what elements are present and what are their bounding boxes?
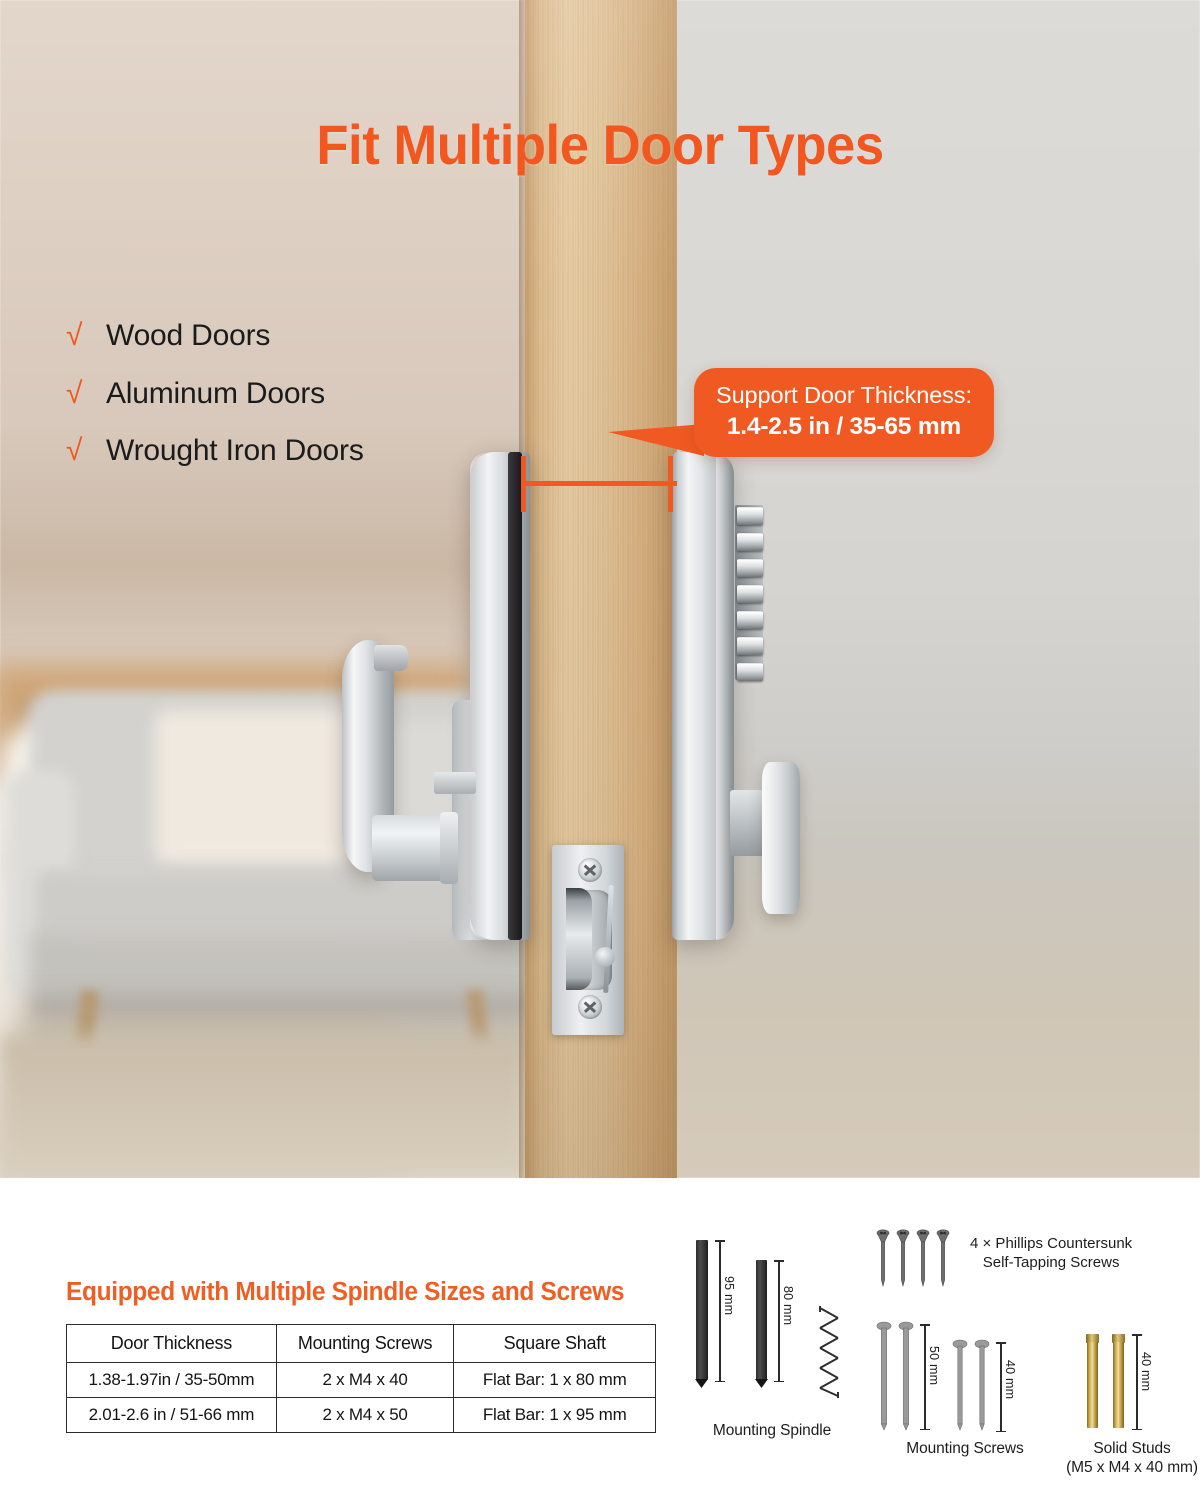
screw-40mm-dimension-bar — [1000, 1342, 1002, 1432]
latch-bolt-curve — [566, 888, 592, 990]
mounting-spindle-illustration: 95 mm 80 mm Mounting Spindle — [686, 1234, 858, 1454]
solid-studs-caption: Solid Studs (M5 x M4 x 40 mm) — [1032, 1440, 1200, 1477]
list-item-label: Aluminum Doors — [106, 378, 325, 410]
stud-40mm-dimension-label: 40 mm — [1139, 1352, 1153, 1391]
list-item: √ Wrought Iron Doors — [66, 435, 364, 467]
latch-screw-bottom-icon — [578, 995, 602, 1019]
table-cell: 2 x M4 x 50 — [276, 1398, 454, 1433]
spindle-80mm-dimension-bar — [778, 1260, 780, 1382]
thumbturn-knob — [762, 762, 800, 914]
door-thickness-callout: Support Door Thickness: 1.4-2.5 in / 35-… — [694, 368, 994, 457]
hero-image: Support Door Thickness: 1.4-2.5 in / 35-… — [0, 0, 1200, 1178]
section-title: Equipped with Multiple Spindle Sizes and… — [66, 1278, 624, 1307]
callout-value: 1.4-2.5 in / 35-65 mm — [716, 412, 972, 443]
page-title: Fit Multiple Door Types — [36, 112, 1164, 177]
lever-handle-hub-cap — [440, 812, 458, 884]
spindle-bar-95mm-tip-icon — [695, 1379, 708, 1388]
spindle-bar-95mm-icon — [696, 1240, 708, 1380]
table-cell: 1.38-1.97in / 35-50mm — [67, 1363, 277, 1398]
spring-icon — [816, 1304, 842, 1400]
keypad-button — [737, 533, 763, 551]
lock-gasket — [508, 452, 522, 940]
latch-screw-top-icon — [578, 858, 602, 882]
screw-40mm-dimension-label: 40 mm — [1003, 1360, 1017, 1399]
list-item: √ Wood Doors — [66, 320, 364, 352]
keypad-button — [737, 559, 763, 577]
spindle-80mm-dimension-label: 80 mm — [781, 1286, 795, 1325]
stud-body-icon — [1113, 1342, 1124, 1428]
lever-handle-hub — [372, 815, 450, 881]
stud-40mm-dimension-bar — [1136, 1334, 1138, 1430]
table-row: 2.01-2.6 in / 51-66 mm 2 x M4 x 50 Flat … — [67, 1398, 656, 1433]
list-item-label: Wrought Iron Doors — [106, 435, 364, 467]
lock-exterior-bevel — [470, 452, 488, 940]
tapping-screws-illustration: 4 × Phillips Countersunk Self-Tapping Sc… — [876, 1228, 1176, 1298]
floor-blur — [0, 1035, 530, 1178]
spindle-95mm-dimension-label: 95 mm — [722, 1276, 736, 1315]
door-type-list: √ Wood Doors √ Aluminum Doors √ Wrought … — [66, 320, 364, 493]
tapping-screws-note-line1: 4 × Phillips Countersunk — [970, 1234, 1132, 1253]
screw-50mm-dimension-bar — [924, 1324, 926, 1430]
lever-handle-tip — [374, 645, 408, 671]
table-header-row: Door Thickness Mounting Screws Square Sh… — [67, 1325, 656, 1363]
table-cell: Flat Bar: 1 x 80 mm — [454, 1363, 656, 1398]
solid-studs-illustration: 40 mm Solid Studs (M5 x M4 x 40 mm) — [1078, 1330, 1200, 1470]
keypad-button — [737, 585, 763, 603]
table-cell: 2.01-2.6 in / 51-66 mm — [67, 1398, 277, 1433]
keypad-button — [737, 663, 763, 681]
screw-50mm-dimension-label: 50 mm — [927, 1346, 941, 1385]
table-cell: Flat Bar: 1 x 95 mm — [454, 1398, 656, 1433]
mounting-screws-illustration: 50 mm 40 mm Mounting Screws — [876, 1320, 1096, 1460]
spec-table: Door Thickness Mounting Screws Square Sh… — [66, 1324, 656, 1433]
keypad-button — [737, 637, 763, 655]
solid-studs-caption-line2: (M5 x M4 x 40 mm) — [1032, 1459, 1200, 1478]
list-item-label: Wood Doors — [106, 320, 270, 352]
spindle-bar-80mm-tip-icon — [755, 1379, 768, 1388]
callout-tail — [608, 424, 704, 456]
callout-title: Support Door Thickness: — [716, 381, 972, 410]
check-icon: √ — [66, 379, 90, 409]
dimension-cap-right — [668, 456, 673, 512]
stud-body-icon — [1087, 1342, 1098, 1428]
latch-dead-latch-button — [595, 947, 615, 967]
column-header-door-thickness: Door Thickness — [67, 1325, 277, 1363]
lock-exterior-notch — [434, 772, 476, 794]
keypad-button — [737, 507, 763, 525]
check-icon: √ — [66, 436, 90, 466]
dimension-line — [521, 481, 677, 486]
column-header-square-shaft: Square Shaft — [454, 1325, 656, 1363]
countersunk-screw-icons — [876, 1228, 962, 1290]
column-header-mounting-screws: Mounting Screws — [276, 1325, 454, 1363]
tapping-screws-note-line2: Self-Tapping Screws — [970, 1253, 1132, 1272]
solid-studs-caption-line1: Solid Studs — [1032, 1440, 1200, 1459]
mounting-screw-icons — [876, 1320, 1006, 1432]
keypad-button — [737, 611, 763, 629]
accessories-section: Equipped with Multiple Spindle Sizes and… — [0, 1178, 1200, 1500]
tapping-screws-note: 4 × Phillips Countersunk Self-Tapping Sc… — [970, 1234, 1132, 1272]
lock-interior-highlight — [716, 452, 732, 940]
check-icon: √ — [66, 321, 90, 351]
table-row: 1.38-1.97in / 35-50mm 2 x M4 x 40 Flat B… — [67, 1363, 656, 1398]
sofa-cushion-blur — [155, 710, 355, 865]
table-cell: 2 x M4 x 40 — [276, 1363, 454, 1398]
spindle-bar-80mm-icon — [756, 1260, 767, 1380]
spindle-95mm-dimension-bar — [719, 1240, 721, 1382]
mounting-spindle-caption: Mounting Spindle — [682, 1422, 862, 1441]
list-item: √ Aluminum Doors — [66, 378, 364, 410]
